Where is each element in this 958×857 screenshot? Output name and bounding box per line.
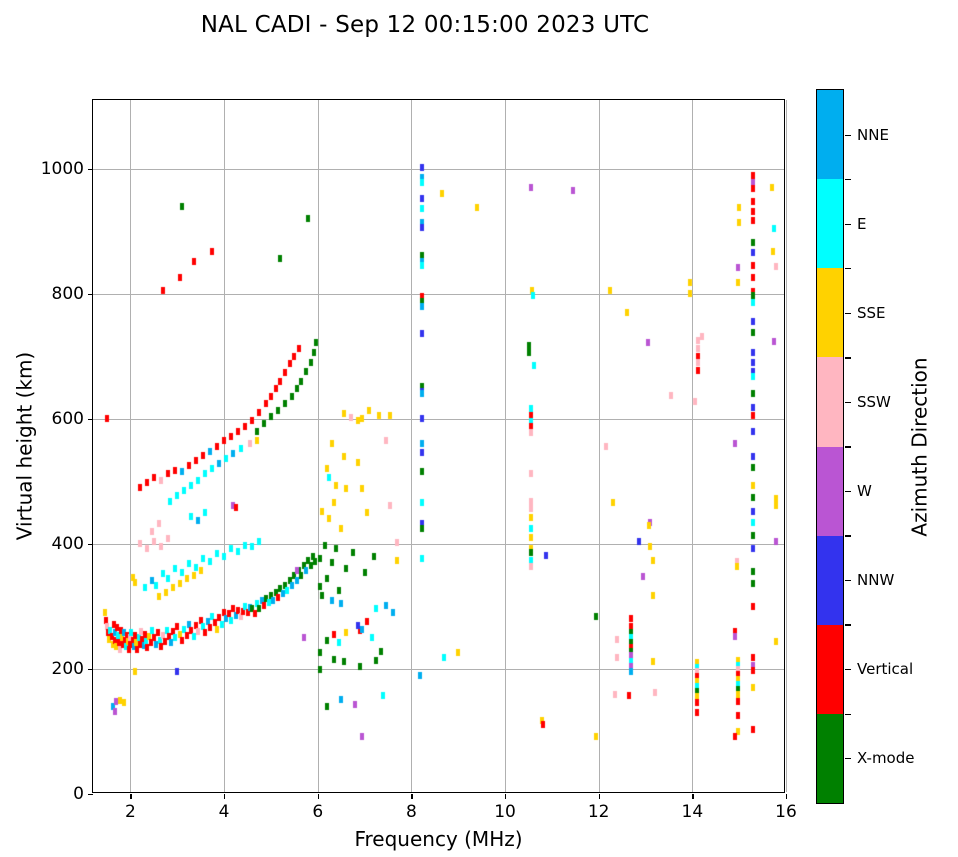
colorbar-tick xyxy=(845,135,851,136)
x-tick xyxy=(692,794,693,799)
colorbar-tick xyxy=(845,224,851,225)
x-tick-label: 10 xyxy=(494,802,516,822)
ionogram-scatter-canvas xyxy=(93,100,786,794)
colorbar-boundary-tick xyxy=(845,268,851,269)
y-tick-label: 200 xyxy=(52,659,84,679)
x-tick-label: 8 xyxy=(406,802,417,822)
colorbar-boundary-tick xyxy=(845,714,851,715)
gridline-vertical xyxy=(786,100,787,792)
colorbar-tick-label-nnw: NNW xyxy=(857,571,894,589)
y-tick-label: 600 xyxy=(52,409,84,429)
x-tick-label: 14 xyxy=(682,802,704,822)
y-tick xyxy=(88,669,93,670)
colorbar-tick xyxy=(845,580,851,581)
x-tick-label: 6 xyxy=(312,802,323,822)
colorbar-boundary-tick xyxy=(845,535,851,536)
y-tick-label: 1000 xyxy=(41,159,84,179)
x-tick xyxy=(318,794,319,799)
colorbar-boundary-tick xyxy=(845,179,851,180)
colorbar-label: Azimuth Direction xyxy=(905,89,935,804)
colorbar-boundary-tick xyxy=(845,446,851,447)
colorbar-tick xyxy=(845,758,851,759)
colorbar-tick-label-ssw: SSW xyxy=(857,393,891,411)
colorbar-segment-vertical[interactable] xyxy=(817,625,843,714)
y-tick xyxy=(88,419,93,420)
y-axis-label: Virtual height (km) xyxy=(10,99,38,793)
y-tick xyxy=(88,544,93,545)
ionogram-figure: NAL CADI - Sep 12 00:15:00 2023 UTC 2468… xyxy=(0,0,958,857)
plot-area: 24681012141602004006008001000 xyxy=(92,99,785,793)
x-tick-label: 2 xyxy=(125,802,136,822)
x-tick xyxy=(786,794,787,799)
x-axis-label: Frequency (MHz) xyxy=(92,827,785,851)
colorbar-tick-label-e: E xyxy=(857,215,866,233)
colorbar-tick xyxy=(845,313,851,314)
colorbar-segment-x-mode[interactable] xyxy=(817,714,843,803)
colorbar-tick xyxy=(845,669,851,670)
colorbar-tick xyxy=(845,402,851,403)
colorbar-tick-label-sse: SSE xyxy=(857,304,886,322)
y-tick-label: 400 xyxy=(52,534,84,554)
x-tick xyxy=(224,794,225,799)
colorbar-boundary-tick xyxy=(845,624,851,625)
x-tick-label: 12 xyxy=(588,802,610,822)
y-tick-label: 0 xyxy=(73,784,84,804)
colorbar-boundary-tick xyxy=(845,357,851,358)
colorbar-segment-e[interactable] xyxy=(817,179,843,268)
colorbar-segment-w[interactable] xyxy=(817,447,843,536)
x-tick xyxy=(411,794,412,799)
y-tick xyxy=(88,294,93,295)
colorbar-segment-nnw[interactable] xyxy=(817,536,843,625)
page-title: NAL CADI - Sep 12 00:15:00 2023 UTC xyxy=(0,12,850,38)
colorbar-tick-label-w: W xyxy=(857,482,872,500)
colorbar-segment-ssw[interactable] xyxy=(817,357,843,446)
colorbar-segment-sse[interactable] xyxy=(817,268,843,357)
colorbar-tick-label-nne: NNE xyxy=(857,126,889,144)
x-tick-label: 16 xyxy=(775,802,797,822)
colorbar-tick xyxy=(845,491,851,492)
y-tick-label: 800 xyxy=(52,284,84,304)
y-tick xyxy=(88,794,93,795)
colorbar[interactable]: NNEESSESSWWNNWVerticalX-mode xyxy=(816,89,844,804)
x-tick xyxy=(130,794,131,799)
y-tick xyxy=(88,169,93,170)
colorbar-segment-nne[interactable] xyxy=(817,90,843,179)
x-tick xyxy=(505,794,506,799)
x-tick-label: 4 xyxy=(219,802,230,822)
x-tick xyxy=(599,794,600,799)
